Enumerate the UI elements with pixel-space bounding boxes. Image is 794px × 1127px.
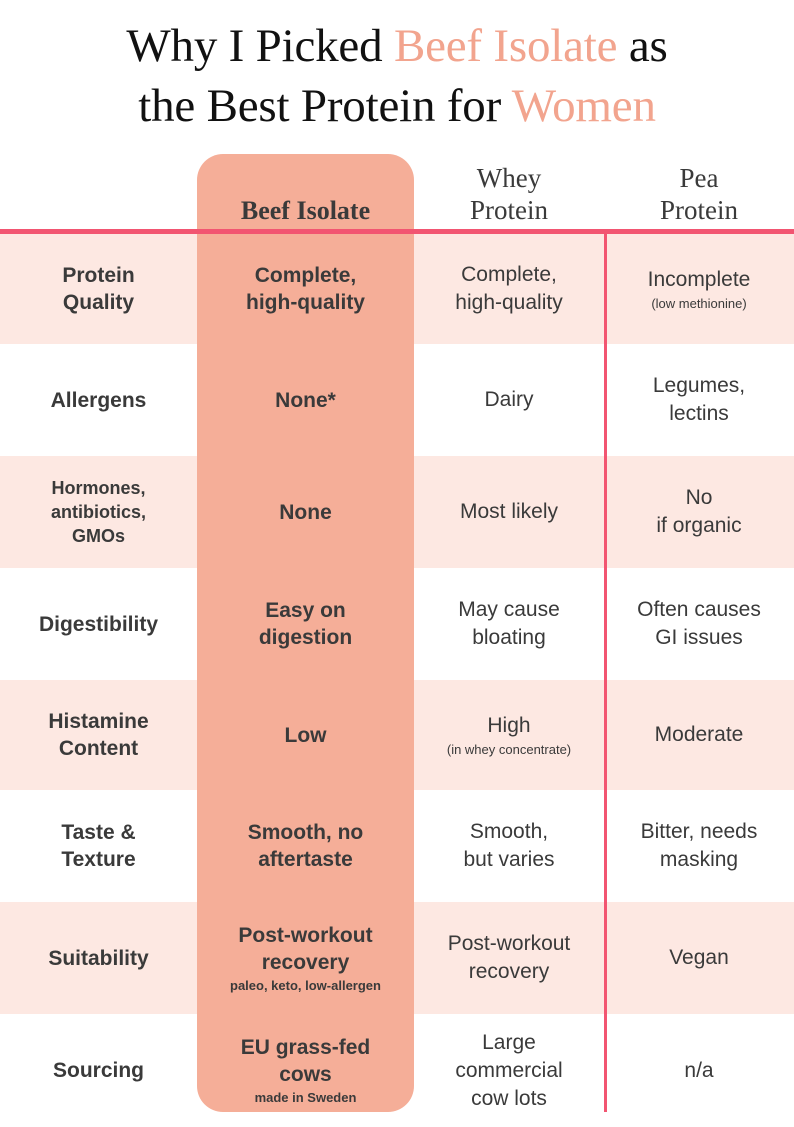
whey-protein-cell: Complete,high-quality <box>414 234 604 344</box>
cell-line: Large <box>482 1031 536 1054</box>
cell-line: digestion <box>259 626 352 649</box>
cell-line: Suitability <box>48 947 148 970</box>
cell-line: Often causes <box>637 598 761 621</box>
pea-protein-cell: Noif organic <box>604 456 794 568</box>
cell-line: Vegan <box>669 946 729 969</box>
header-underline-rule <box>0 229 794 234</box>
column-header-whey-line-1: Whey <box>477 163 541 193</box>
table-row: Hormones,antibiotics,GMOsNoneMost likely… <box>0 456 794 568</box>
whey-protein-cell: Dairy <box>414 344 604 456</box>
pea-protein-cell: Often causesGI issues <box>604 568 794 680</box>
beef-isolate-cell: EU grass-fedcowsmade in Sweden <box>197 1014 414 1127</box>
table-row: DigestibilityEasy ondigestionMay causebl… <box>0 568 794 680</box>
column-header-pea-protein: Pea Protein <box>604 144 794 234</box>
table-row: SourcingEU grass-fedcowsmade in SwedenLa… <box>0 1014 794 1127</box>
pea-protein-cell: Vegan <box>604 902 794 1014</box>
cell-line: recovery <box>262 951 350 974</box>
row-label-cell: Taste &Texture <box>0 790 197 902</box>
cell-line: Complete, <box>255 264 357 287</box>
cell-line: GMOs <box>72 526 125 546</box>
cell-line: Allergens <box>51 389 147 412</box>
table-row: SuitabilityPost-workoutrecoverypaleo, ke… <box>0 902 794 1014</box>
cell-line: Most likely <box>460 500 558 523</box>
cell-line: antibiotics, <box>51 502 146 522</box>
cell-line: aftertaste <box>258 848 353 871</box>
beef-isolate-cell: Low <box>197 680 414 790</box>
page-title-line-2: the Best Protein for Women <box>18 76 776 136</box>
page-title-accent-beef-isolate: Beef Isolate <box>394 20 617 72</box>
cell-line: Post-workout <box>238 924 372 947</box>
cell-line: Smooth, <box>470 820 548 843</box>
table-row: AllergensNone*DairyLegumes,lectins <box>0 344 794 456</box>
beef-isolate-cell: None* <box>197 344 414 456</box>
whey-pea-column-divider <box>604 229 607 1112</box>
table-body: ProteinQualityComplete,high-qualityCompl… <box>0 234 794 1127</box>
cell-line: Incomplete <box>648 268 751 291</box>
page-title-line-2-text: the Best Protein for <box>138 80 512 132</box>
whey-protein-cell: May causebloating <box>414 568 604 680</box>
cell-line: Taste & <box>61 821 135 844</box>
cell-line: None* <box>275 389 336 412</box>
row-label-cell: Suitability <box>0 902 197 1014</box>
column-header-beef-isolate: Beef Isolate <box>197 144 414 234</box>
column-header-whey-protein-label: Whey Protein <box>470 162 548 226</box>
cell-subtext: made in Sweden <box>255 1089 357 1107</box>
whey-protein-cell: Smooth,but varies <box>414 790 604 902</box>
cell-line: Content <box>59 737 138 760</box>
cell-line: lectins <box>669 402 729 425</box>
column-header-whey-protein: Whey Protein <box>414 144 604 234</box>
beef-isolate-cell: Post-workoutrecoverypaleo, keto, low-all… <box>197 902 414 1014</box>
pea-protein-cell: Legumes,lectins <box>604 344 794 456</box>
cell-line: masking <box>660 848 738 871</box>
cell-subtext: (low methionine) <box>651 295 746 313</box>
cell-line: Quality <box>63 291 134 314</box>
cell-line: high-quality <box>455 291 562 314</box>
cell-line: but varies <box>463 848 554 871</box>
cell-line: Dairy <box>484 388 533 411</box>
column-header-pea-line-2: Protein <box>660 195 738 225</box>
cell-line: Post-workout <box>448 932 571 955</box>
cell-line: Bitter, needs <box>641 820 758 843</box>
table-header-row: Beef Isolate Whey Protein Pea Protein <box>0 144 794 234</box>
cell-line: Protein <box>62 264 134 287</box>
table-header-spacer <box>0 144 197 234</box>
comparison-table: Beef Isolate Whey Protein Pea Protein Pr… <box>0 144 794 1112</box>
pea-protein-cell: Incomplete(low methionine) <box>604 234 794 344</box>
cell-line: Texture <box>61 848 135 871</box>
cell-line: Complete, <box>461 263 557 286</box>
table-row: ProteinQualityComplete,high-qualityCompl… <box>0 234 794 344</box>
column-header-pea-line-1: Pea <box>680 163 719 193</box>
page-title-accent-women: Women <box>512 80 656 132</box>
table-row: HistamineContentLowHigh(in whey concentr… <box>0 680 794 790</box>
cell-line: high-quality <box>246 291 365 314</box>
cell-line: Moderate <box>655 723 744 746</box>
cell-line: Legumes, <box>653 374 745 397</box>
cell-line: May cause <box>458 598 560 621</box>
page-title-line-1-tail: as <box>617 20 667 72</box>
page-title-line-1-text: Why I Picked <box>126 20 394 72</box>
pea-protein-cell: Moderate <box>604 680 794 790</box>
cell-line: bloating <box>472 626 546 649</box>
page-title-line-1: Why I Picked Beef Isolate as <box>18 16 776 76</box>
table-row: Taste &TextureSmooth, noaftertasteSmooth… <box>0 790 794 902</box>
whey-protein-cell: Most likely <box>414 456 604 568</box>
cell-line: None <box>279 501 332 524</box>
page-title: Why I Picked Beef Isolate as the Best Pr… <box>0 0 794 136</box>
cell-line: recovery <box>469 960 550 983</box>
cell-line: No <box>686 486 713 509</box>
column-header-pea-protein-label: Pea Protein <box>660 162 738 226</box>
cell-line: n/a <box>684 1059 713 1082</box>
cell-line: Hormones, <box>51 478 145 498</box>
cell-line: Sourcing <box>53 1059 144 1082</box>
whey-protein-cell: Post-workoutrecovery <box>414 902 604 1014</box>
beef-isolate-cell: None <box>197 456 414 568</box>
row-label-cell: HistamineContent <box>0 680 197 790</box>
cell-line: High <box>487 714 530 737</box>
cell-line: Smooth, no <box>248 821 363 844</box>
cell-line: Low <box>285 724 327 747</box>
whey-protein-cell: Largecommercialcow lots <box>414 1014 604 1127</box>
row-label-cell: Digestibility <box>0 568 197 680</box>
cell-line: Easy on <box>265 599 346 622</box>
cell-line: EU grass-fed <box>241 1036 371 1059</box>
beef-isolate-cell: Complete,high-quality <box>197 234 414 344</box>
cell-line: GI issues <box>655 626 743 649</box>
row-label-cell: Sourcing <box>0 1014 197 1127</box>
pea-protein-cell: Bitter, needsmasking <box>604 790 794 902</box>
row-label-cell: Allergens <box>0 344 197 456</box>
cell-line: if organic <box>656 514 741 537</box>
beef-isolate-cell: Smooth, noaftertaste <box>197 790 414 902</box>
cell-line: cows <box>279 1063 332 1086</box>
pea-protein-cell: n/a <box>604 1014 794 1127</box>
whey-protein-cell: High(in whey concentrate) <box>414 680 604 790</box>
cell-line: Digestibility <box>39 613 158 636</box>
row-label-cell: Hormones,antibiotics,GMOs <box>0 456 197 568</box>
row-label-cell: ProteinQuality <box>0 234 197 344</box>
cell-subtext: (in whey concentrate) <box>447 741 571 759</box>
cell-line: Histamine <box>48 710 148 733</box>
cell-line: cow lots <box>471 1087 547 1110</box>
cell-subtext: paleo, keto, low-allergen <box>230 977 381 995</box>
cell-line: commercial <box>455 1059 562 1082</box>
beef-isolate-cell: Easy ondigestion <box>197 568 414 680</box>
column-header-beef-isolate-label: Beef Isolate <box>241 196 370 226</box>
column-header-whey-line-2: Protein <box>470 195 548 225</box>
